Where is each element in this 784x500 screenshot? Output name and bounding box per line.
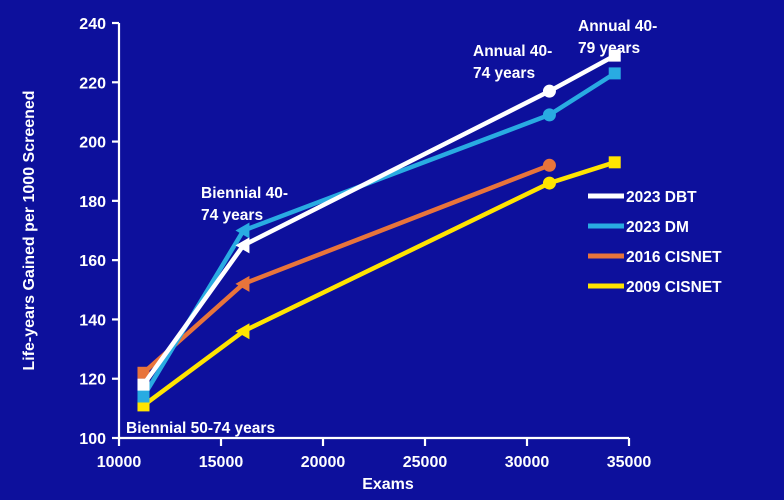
annotation-annual-40-74: Annual 40-74 years <box>473 43 552 82</box>
annotation-text: Annual 40- <box>578 18 657 35</box>
x-tick-label: 30000 <box>505 454 550 471</box>
x-tick-label: 20000 <box>301 454 346 471</box>
data-point-marker <box>543 159 556 172</box>
x-axis-tick-labels: 100001500020000250003000035000 <box>97 454 652 471</box>
x-axis-ticks <box>119 438 629 446</box>
y-axis-tick-labels: 100120140160180200220240 <box>79 16 106 448</box>
annotation-text: Biennial 50-74 years <box>126 420 275 437</box>
y-tick-label: 240 <box>79 16 106 33</box>
legend-label: 2023 DBT <box>626 189 697 206</box>
data-point-marker <box>609 67 621 79</box>
y-tick-label: 180 <box>79 194 106 211</box>
annotation-biennial-50-74: Biennial 50-74 years <box>126 420 275 437</box>
legend-item-2023-dbt[interactable]: 2023 DBT <box>588 189 697 206</box>
legend-item-2023-dm[interactable]: 2023 DM <box>588 219 689 236</box>
annotation-text: 74 years <box>201 207 263 224</box>
data-point-marker <box>137 379 149 391</box>
legend-item-2016-cisnet[interactable]: 2016 CISNET <box>588 249 722 266</box>
y-tick-label: 100 <box>79 431 106 448</box>
annotation-annual-40-79: Annual 40-79 years <box>578 18 657 57</box>
data-point-marker <box>609 156 621 168</box>
legend-label: 2023 DM <box>626 219 689 236</box>
data-series-group <box>137 50 620 412</box>
legend-label: 2016 CISNET <box>626 249 722 266</box>
chart-container: 100120140160180200220240 100001500020000… <box>0 0 784 500</box>
x-axis-title: Exams <box>362 476 414 493</box>
y-tick-label: 220 <box>79 75 106 92</box>
data-point-marker <box>543 108 556 121</box>
x-tick-label: 25000 <box>403 454 448 471</box>
annotation-text: 74 years <box>473 65 535 82</box>
annotation-text: Annual 40- <box>473 43 552 60</box>
x-tick-label: 10000 <box>97 454 142 471</box>
legend-label: 2009 CISNET <box>626 279 722 296</box>
y-tick-label: 160 <box>79 253 106 270</box>
data-point-marker <box>543 177 556 190</box>
data-point-marker <box>137 391 149 403</box>
y-axis-title: Life-years Gained per 1000 Screened <box>21 90 38 370</box>
annotation-text: Biennial 40- <box>201 185 288 202</box>
legend-item-2009-cisnet[interactable]: 2009 CISNET <box>588 279 722 296</box>
line-chart: 100120140160180200220240 100001500020000… <box>0 0 784 500</box>
y-tick-label: 120 <box>79 372 106 389</box>
y-tick-label: 200 <box>79 135 106 152</box>
x-tick-label: 15000 <box>199 454 244 471</box>
series-line <box>143 73 614 396</box>
series-2023-dm <box>137 67 620 402</box>
y-tick-label: 140 <box>79 312 106 329</box>
chart-legend: 2023 DBT2023 DM2016 CISNET2009 CISNET <box>588 189 722 296</box>
x-tick-label: 35000 <box>607 454 652 471</box>
annotation-text: 79 years <box>578 40 640 57</box>
data-point-marker <box>543 85 556 98</box>
